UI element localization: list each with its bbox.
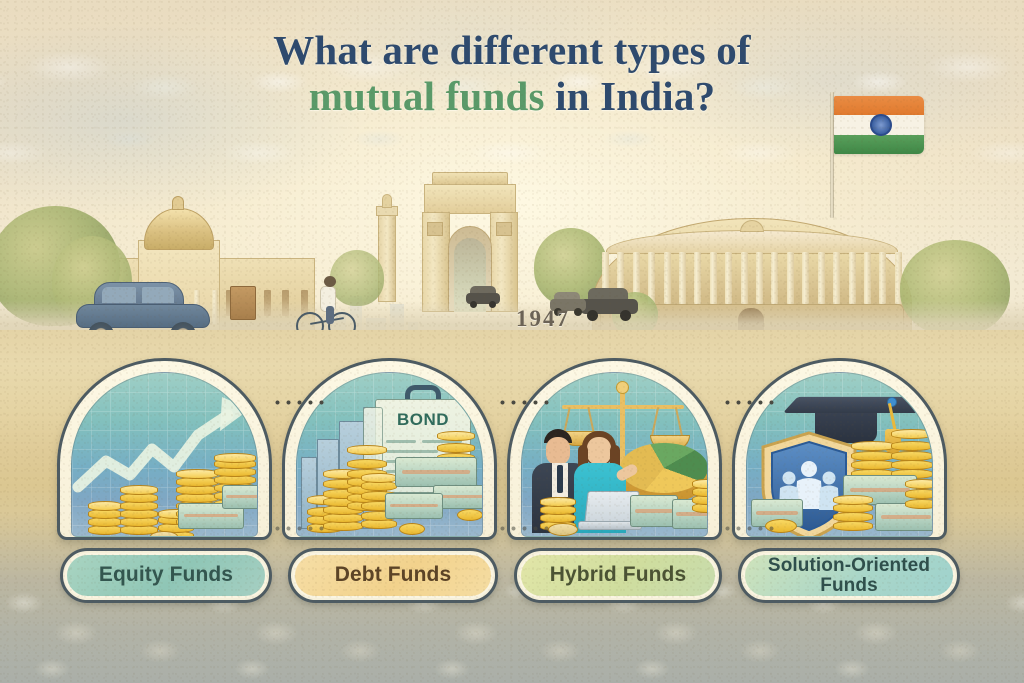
pill-hybrid-label: Hybrid Funds [519, 553, 717, 598]
coin-stack [692, 479, 708, 511]
card-solution-oriented-arch[interactable] [732, 358, 947, 540]
coin [548, 523, 578, 536]
title-highlight: mutual funds [309, 73, 545, 119]
upward-arrow-chart [72, 391, 258, 501]
page-title: What are different types of mutual funds… [0, 28, 1024, 120]
modern-car-right [580, 288, 638, 318]
bond-label: BOND [376, 410, 470, 430]
infographic-canvas: 1947 What are different types of mutual … [0, 0, 1024, 683]
card-hybrid-arch[interactable] [507, 358, 722, 540]
modern-car-center [466, 286, 500, 306]
coin-stack [905, 479, 933, 507]
connector-dots-3 [722, 400, 774, 405]
card-debt-arch[interactable]: BOND [282, 358, 497, 540]
title-line-2-tail: in India? [545, 73, 716, 119]
card-equity-arch[interactable] [57, 358, 272, 540]
fund-types-strip: BOND [0, 358, 1024, 683]
cash-bundle [385, 493, 443, 519]
pill-solution-oriented[interactable]: Solution-Oriented Funds [738, 548, 960, 603]
connector-dots-1 [272, 400, 324, 405]
pill-debt[interactable]: Debt Funds [288, 548, 498, 603]
rising-chart-coins-icon [71, 372, 258, 537]
coin-stack [891, 429, 933, 479]
title-line-2: mutual funds in India? [0, 74, 1024, 120]
coin [457, 509, 483, 521]
pill-equity-label: Equity Funds [65, 553, 267, 598]
bond-certificate-icon: BOND [296, 372, 483, 537]
title-line-1: What are different types of [0, 28, 1024, 74]
connector-dots-2 [497, 400, 549, 405]
pill-debt-label: Debt Funds [293, 553, 493, 598]
coin [399, 523, 425, 535]
roadside-kiosk [230, 286, 256, 320]
pill-equity[interactable]: Equity Funds [60, 548, 272, 603]
coin [150, 531, 178, 537]
coin-stack [851, 441, 895, 479]
cash-bundle [395, 457, 477, 487]
graduation-cap-family-shield-icon [746, 372, 933, 537]
coin-stack [833, 495, 873, 531]
balance-scale-pie-chart-icon [521, 372, 708, 537]
pill-hybrid[interactable]: Hybrid Funds [514, 548, 722, 603]
pill-solution-oriented-label: Solution-Oriented Funds [743, 553, 955, 598]
coin-stack [88, 501, 122, 535]
year-marker: 1947 [516, 306, 570, 332]
cash-bundle [630, 495, 678, 527]
connector-dots-low-2 [497, 526, 549, 531]
connector-dots-low-3 [722, 526, 774, 531]
connector-dots-low-1 [272, 526, 324, 531]
